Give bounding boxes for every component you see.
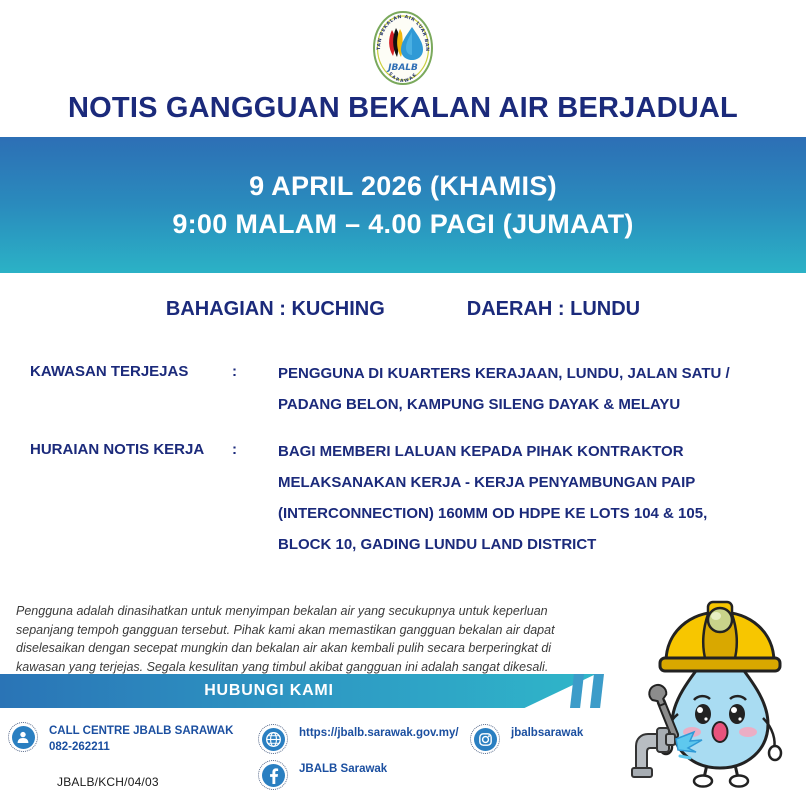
website-url: https://jbalb.sarawak.gov.my/: [299, 724, 459, 742]
logo-container: JABATAN BEKALAN AIR LUAR BANDAR SARAWAK …: [0, 8, 806, 88]
contact-website[interactable]: https://jbalb.sarawak.gov.my/: [258, 724, 459, 754]
affected-area-value: PENGGUNA DI KUARTERS KERAJAAN, LUNDU, JA…: [278, 358, 730, 420]
instagram-handle: jbalbsarawak: [511, 724, 583, 742]
call-centre-number: 082-262211: [49, 741, 110, 753]
call-centre-text: CALL CENTRE JBALB SARAWAK 082-262211: [49, 722, 233, 755]
date-line-1: 9 APRIL 2026 (KHAMIS): [249, 167, 557, 205]
contact-instagram[interactable]: jbalbsarawak: [470, 724, 583, 754]
svg-text:JBALB: JBALB: [386, 63, 418, 73]
bahagian-label: BAHAGIAN : KUCHING: [166, 298, 385, 321]
contact-banner: HUBUNGI KAMI: [0, 674, 596, 708]
page-title: NOTIS GANGGUAN BEKALAN AIR BERJADUAL: [0, 92, 806, 125]
person-icon: [8, 722, 38, 752]
contact-banner-label: HUBUNGI KAMI: [204, 682, 334, 700]
work-description-line-2: MELAKSANAKAN KERJA - KERJA PENYAMBUNGAN …: [278, 467, 730, 498]
work-description-label: HURAIAN NOTIS KERJA: [30, 436, 232, 465]
daerah-label: DAERAH : LUNDU: [467, 298, 640, 321]
info-row-affected-area: KAWASAN TERJEJAS : PENGGUNA DI KUARTERS …: [30, 358, 776, 420]
work-description-line-1: BAGI MEMBERI LALUAN KEPADA PIHAK KONTRAK…: [278, 436, 730, 467]
work-description-value: BAGI MEMBERI LALUAN KEPADA PIHAK KONTRAK…: [278, 436, 730, 560]
work-description-line-3: (INTERCONNECTION) 160MM OD HDPE KE LOTS …: [278, 498, 730, 529]
work-description-colon: :: [232, 436, 278, 465]
facebook-icon: [258, 760, 288, 790]
affected-area-colon: :: [232, 358, 278, 387]
contact-call-centre[interactable]: CALL CENTRE JBALB SARAWAK 082-262211: [8, 722, 233, 755]
affected-area-label: KAWASAN TERJEJAS: [30, 358, 232, 387]
banner-stripe-decoration: [590, 674, 604, 708]
reference-number: JBALB/KCH/04/03: [57, 775, 159, 789]
info-row-work-description: HURAIAN NOTIS KERJA : BAGI MEMBERI LALUA…: [30, 436, 776, 560]
work-description-line-4: BLOCK 10, GADING LUNDU LAND DISTRICT: [278, 529, 730, 560]
instagram-icon: [470, 724, 500, 754]
globe-icon: [258, 724, 288, 754]
advisory-text: Pengguna adalah dinasihatkan untuk menyi…: [16, 602, 582, 676]
affected-area-line-2: PADANG BELON, KAMPUNG SILENG DAYAK & MEL…: [278, 396, 680, 413]
facebook-handle: JBALB Sarawak: [299, 760, 387, 778]
date-banner: 9 APRIL 2026 (KHAMIS) 9:00 MALAM – 4.00 …: [0, 137, 806, 273]
call-centre-label: CALL CENTRE JBALB SARAWAK: [49, 725, 233, 737]
notice-details: KAWASAN TERJEJAS : PENGGUNA DI KUARTERS …: [30, 358, 776, 576]
water-droplet-mascot: [630, 592, 806, 793]
date-line-2: 9:00 MALAM – 4.00 PAGI (JUMAAT): [172, 205, 633, 243]
jbalb-logo: JABATAN BEKALAN AIR LUAR BANDAR SARAWAK …: [372, 10, 434, 86]
affected-area-line-1: PENGGUNA DI KUARTERS KERAJAAN, LUNDU, JA…: [278, 365, 730, 382]
division-row: BAHAGIAN : KUCHING DAERAH : LUNDU: [0, 298, 806, 321]
contact-facebook[interactable]: JBALB Sarawak: [258, 760, 387, 790]
